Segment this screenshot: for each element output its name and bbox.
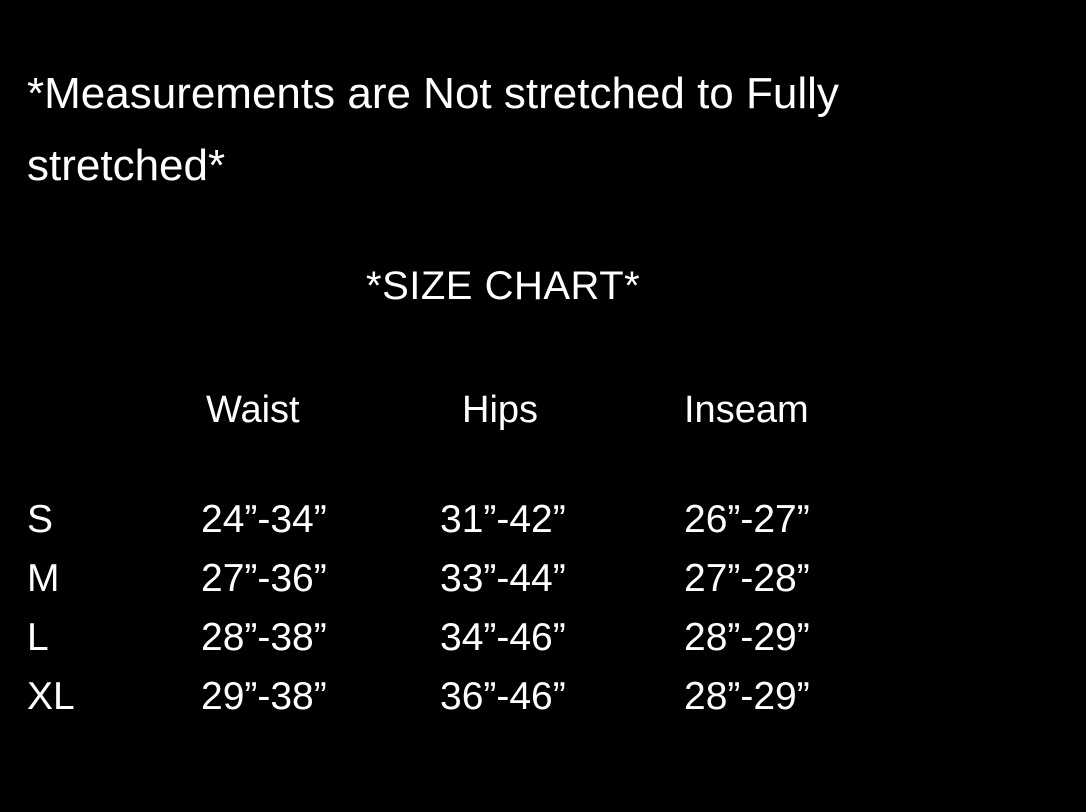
table-row: XL 29”-38” 36”-46” 28”-29” [0,673,1086,732]
size-chart-table: Waist Hips Inseam S 24”-34” 31”-42” 26”-… [0,386,1086,732]
row-hips-value: 34”-46” [440,614,566,662]
row-size-label: S [27,496,53,544]
row-size-label: M [27,555,60,603]
row-inseam-value: 27”-28” [684,555,810,603]
row-waist-value: 24”-34” [201,496,327,544]
row-hips-value: 31”-42” [440,496,566,544]
column-header-waist: Waist [206,386,300,434]
table-header-row: Waist Hips Inseam [0,386,1086,496]
row-inseam-value: 28”-29” [684,614,810,662]
table-row: S 24”-34” 31”-42” 26”-27” [0,496,1086,555]
measurement-note: *Measurements are Not stretched to Fully… [27,58,1037,202]
page-title: *SIZE CHART* [366,262,640,310]
table-row: L 28”-38” 34”-46” 28”-29” [0,614,1086,673]
size-chart-canvas: *Measurements are Not stretched to Fully… [0,0,1086,812]
row-size-label: XL [27,673,75,721]
row-hips-value: 33”-44” [440,555,566,603]
table-row: M 27”-36” 33”-44” 27”-28” [0,555,1086,614]
row-waist-value: 28”-38” [201,614,327,662]
row-inseam-value: 26”-27” [684,496,810,544]
row-size-label: L [27,614,49,662]
row-inseam-value: 28”-29” [684,673,810,721]
column-header-inseam: Inseam [684,386,809,434]
row-hips-value: 36”-46” [440,673,566,721]
row-waist-value: 27”-36” [201,555,327,603]
row-waist-value: 29”-38” [201,673,327,721]
column-header-hips: Hips [462,386,538,434]
